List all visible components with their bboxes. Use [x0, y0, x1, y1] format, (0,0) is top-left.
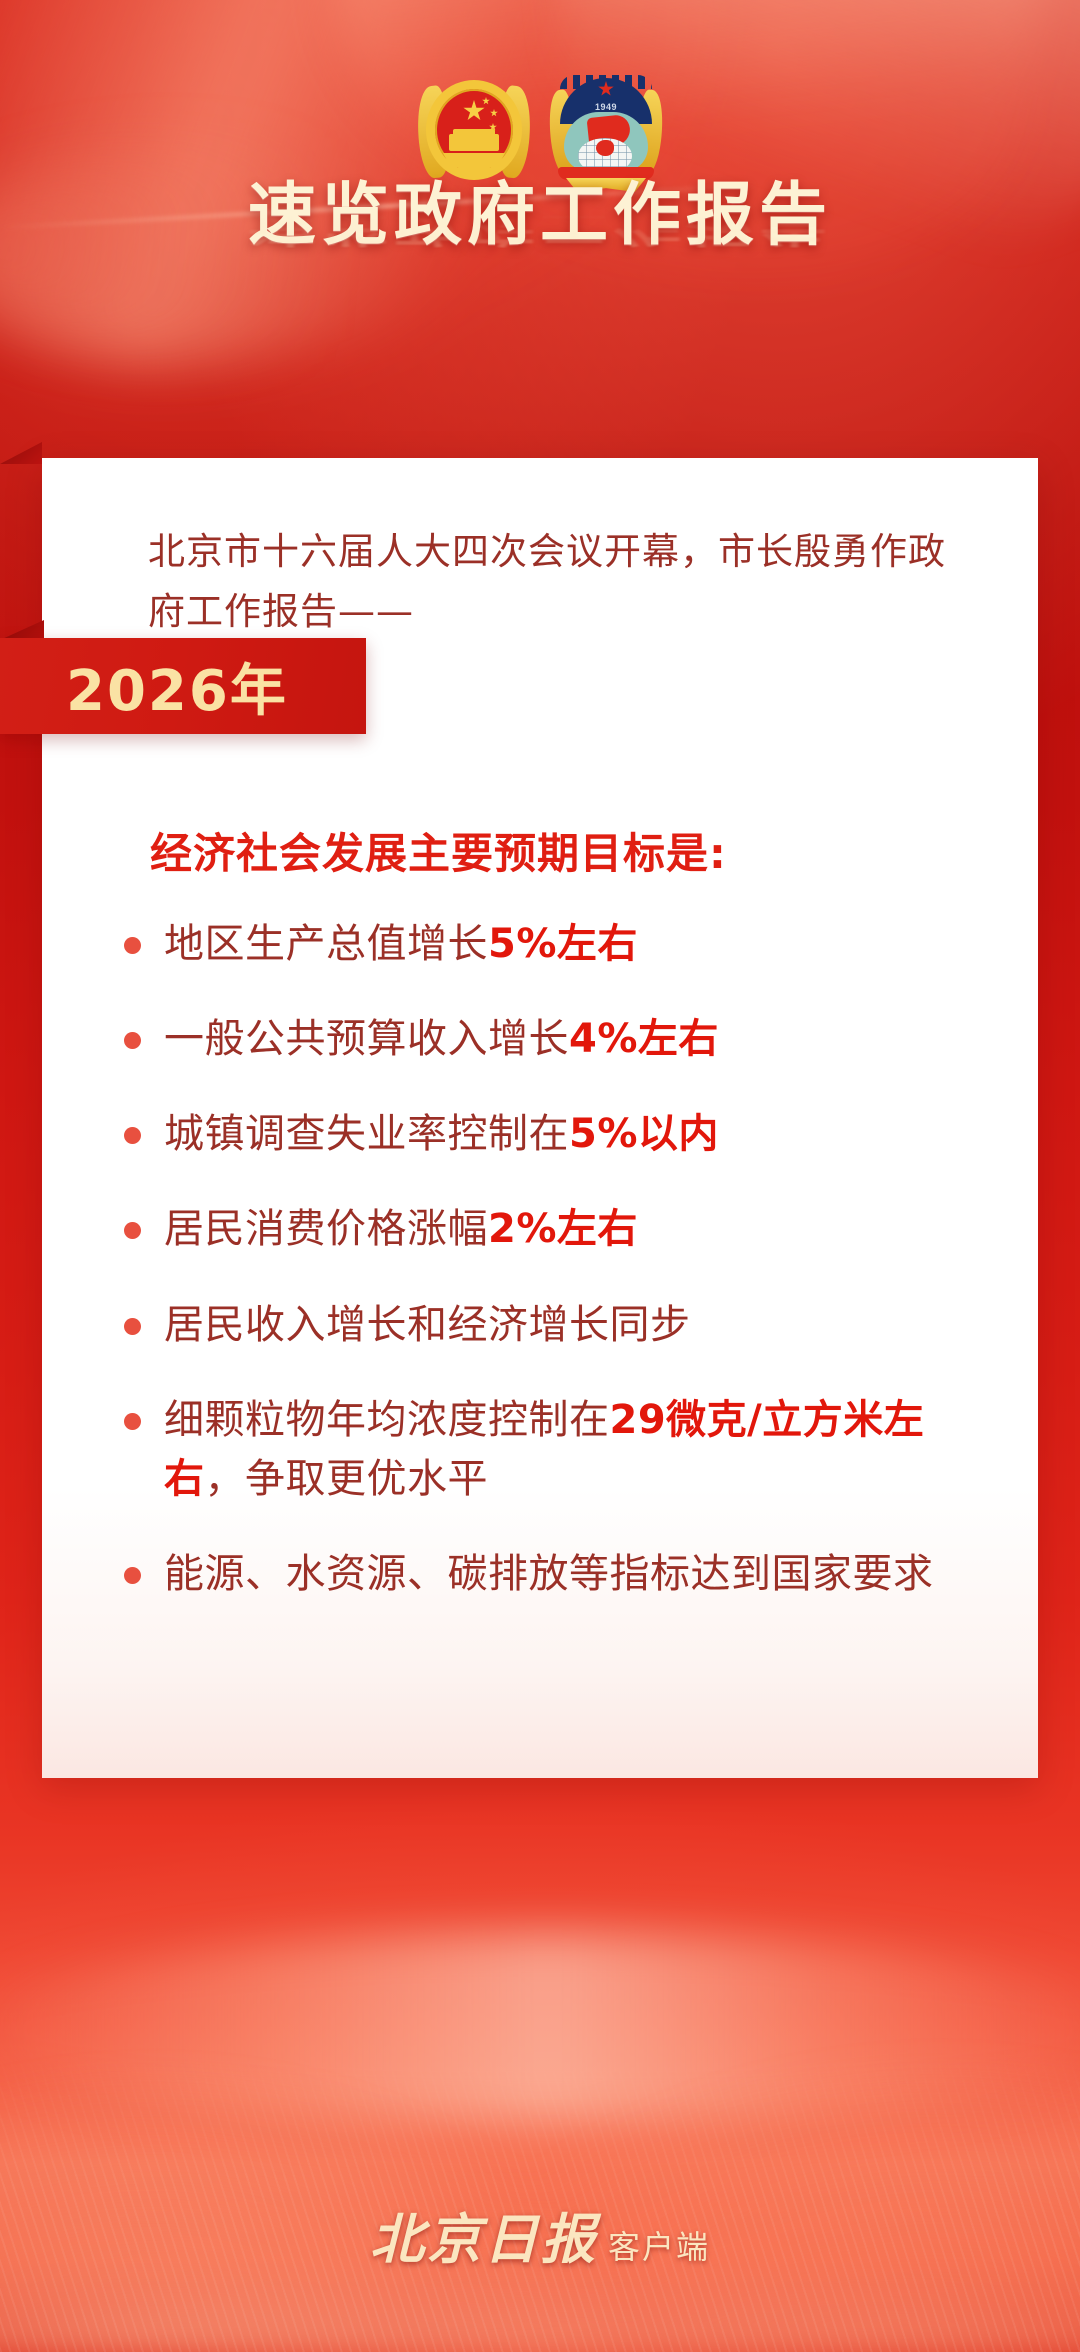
year-badge-body: 2026年 — [0, 638, 366, 734]
cppcc-year-label: 1949 — [590, 102, 622, 112]
goal-lead: 地区生产总值增长 — [164, 921, 488, 967]
goal-lead: 居民收入增长和经济增长同步 — [164, 1302, 691, 1348]
bullet-dot-icon — [124, 1413, 141, 1430]
card-bevel — [0, 442, 42, 464]
bullet-dot-icon — [124, 1127, 141, 1144]
year-badge-fold — [0, 620, 44, 640]
goal-lead: 一般公共预算收入增长 — [164, 1016, 569, 1062]
intro-paragraph: 北京市十六届人大四次会议开幕，市长殷勇作政府工作报告—— — [88, 512, 992, 642]
poster-root: 1949 中国人民政治协商会议 速览政府工作报告 速览政府工作报告 北京市十六届… — [0, 0, 1080, 2352]
goal-lead: 城镇调查失业率控制在 — [164, 1111, 569, 1157]
page-title-reflection: 速览政府工作报告 — [0, 206, 1080, 248]
list-item: 居民收入增长和经济增长同步 — [106, 1296, 984, 1355]
brand-name: 北京日报 — [370, 2195, 598, 2274]
list-item: 能源、水资源、碳排放等指标达到国家要求 — [106, 1545, 984, 1604]
bullet-dot-icon — [124, 1222, 141, 1239]
list-item: 城镇调查失业率控制在5%以内 — [106, 1105, 984, 1164]
list-item: 一般公共预算收入增长4%左右 — [106, 1010, 984, 1069]
bullet-dot-icon — [124, 937, 141, 954]
goals-block: 经济社会发展主要预期目标是: 地区生产总值增长5%左右 一般公共预算收入增长4%… — [88, 642, 992, 1605]
year-badge: 2026年 — [0, 638, 366, 734]
goal-highlight: 5%以内 — [569, 1111, 719, 1157]
bullet-dot-icon — [124, 1567, 141, 1584]
goal-lead: 能源、水资源、碳排放等指标达到国家要求 — [164, 1551, 934, 1597]
footer: 北京日报 客户端 — [0, 2052, 1080, 2352]
goals-list: 地区生产总值增长5%左右 一般公共预算收入增长4%左右 城镇调查失业率控制在5%… — [106, 915, 984, 1605]
bullet-dot-icon — [124, 1032, 141, 1049]
list-item: 居民消费价格涨幅2%左右 — [106, 1200, 984, 1259]
section-heading: 经济社会发展主要预期目标是: — [106, 820, 984, 881]
title-block: 速览政府工作报告 速览政府工作报告 — [0, 178, 1080, 324]
year-badge-label: 2026年 — [66, 646, 288, 727]
goal-highlight: 4%左右 — [569, 1016, 719, 1062]
list-item: 地区生产总值增长5%左右 — [106, 915, 984, 974]
tiananmen-gate-icon — [449, 134, 499, 151]
goal-lead: 细颗粒物年均浓度控制在 — [164, 1397, 610, 1443]
goal-highlight: 5%左右 — [488, 921, 638, 967]
brand-logo: 北京日报 客户端 — [370, 2195, 710, 2274]
goal-lead: 居民消费价格涨幅 — [164, 1206, 488, 1252]
china-map-icon — [596, 140, 614, 156]
bullet-dot-icon — [124, 1318, 141, 1335]
gate-base-icon — [443, 153, 505, 167]
goal-highlight: 2%左右 — [488, 1206, 638, 1252]
goal-tail: ，争取更优水平 — [205, 1456, 489, 1502]
brand-platform: 客户端 — [608, 2222, 710, 2268]
list-item: 细颗粒物年均浓度控制在29微克/立方米左右，争取更优水平 — [106, 1391, 984, 1509]
